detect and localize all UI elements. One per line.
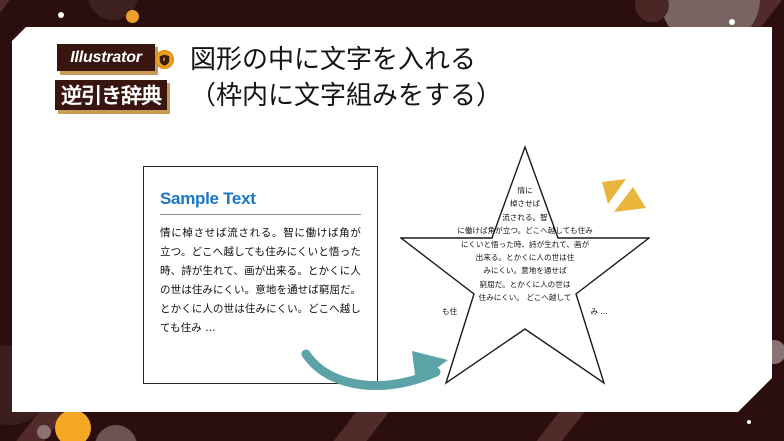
star-last-line-right: み … [590,305,608,318]
sample-body-text: 情に棹させば流される。智に働けば角が立つ。どこへ越しても住みにくいと悟った時、詩… [160,224,361,338]
illustrator-dictionary-logo: Illustrator 逆引き辞典 [55,42,175,114]
shield-badge-icon [155,50,174,69]
bg-circle-gray-bottom-left [37,425,51,439]
logo-top-plate: Illustrator [57,44,155,71]
logo-bottom-plate: 逆引き辞典 [55,80,167,110]
bg-stripe-left [0,0,9,102]
yellow-triangle-sparkle-icon [600,178,652,220]
bg-dot-white-5 [747,420,751,424]
bg-dot-white-1 [58,12,64,18]
title-line-2: （枠内に文字組みをする） [190,78,610,114]
bg-dot-white-2 [729,19,735,25]
bg-circle-orange-bottom [55,410,91,441]
bg-dot-orange-top [126,10,139,23]
title-line-1: 図形の中に文字を入れる [190,42,610,78]
star-line-3: に働けば角が立つ。どこへ越しても住み [400,224,650,237]
star-line-6: みにくい。意地を通せば [400,264,650,277]
logo-bottom-label: 逆引き辞典 [61,80,161,110]
star-line-8: 住みにくい。 どこへ越して [400,291,650,304]
heading-divider [160,214,361,215]
slide-canvas: Illustrator 逆引き辞典 図形の中に文字を入れる （枠内に文字組みをす… [0,0,784,441]
page-title: 図形の中に文字を入れる （枠内に文字組みをする） [190,42,610,114]
bg-circle-gray-bottom-mid [95,425,137,441]
logo-top-label: Illustrator [70,49,142,67]
star-line-7: 窮屈だ。とかくに人の世は [400,278,650,291]
star-line-5: 出来る。とかくに人の世は住 [400,251,650,264]
curved-right-arrow-icon [300,338,470,396]
star-last-line-left: も住 [442,305,457,318]
star-line-4: にくいと悟った時、詩が生れて、画が [400,238,650,251]
sample-heading: Sample Text [160,189,361,214]
star-last-line: も住 み … [400,305,650,318]
